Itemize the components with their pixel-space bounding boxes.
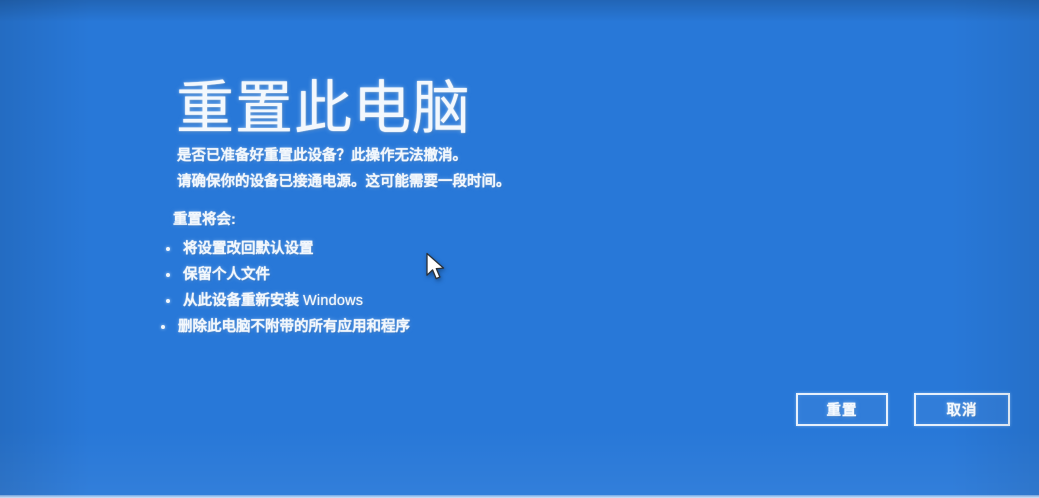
intro-paragraph: 是否已准备好重置此设备？此操作无法撤消。 请确保你的设备已接通电源。这可能需要一… xyxy=(177,143,737,195)
intro-line-1: 是否已准备好重置此设备？此操作无法撤消。 xyxy=(177,143,737,169)
reset-this-pc-screen: 重置此电脑 是否已准备好重置此设备？此操作无法撤消。 请确保你的设备已接通电源。… xyxy=(0,0,1039,498)
bullet-dot-icon xyxy=(166,299,170,303)
list-item-label: 删除此电脑不附带的所有应用和程序 xyxy=(178,319,410,335)
list-item-label: 保留个人文件 xyxy=(183,267,270,283)
list-item: 从此设备重新安装 Windows xyxy=(163,288,763,314)
bullet-dot-icon xyxy=(166,247,170,251)
reset-button[interactable]: 重置 xyxy=(796,393,888,426)
bullet-dot-icon xyxy=(161,325,165,329)
list-item: 将设置改回默认设置 xyxy=(163,236,763,262)
bullet-dot-icon xyxy=(166,273,170,277)
list-item-label-latin: Windows xyxy=(303,293,363,309)
reset-effects-list: 将设置改回默认设置 保留个人文件 从此设备重新安装 Windows 删除此电脑不… xyxy=(163,236,763,340)
list-item: 保留个人文件 xyxy=(163,262,763,288)
action-button-bar: 重置 取消 xyxy=(796,393,1010,426)
intro-line-2: 请确保你的设备已接通电源。这可能需要一段时间。 xyxy=(177,169,737,195)
cancel-button[interactable]: 取消 xyxy=(914,393,1010,426)
list-item-label: 从此设备重新安装 xyxy=(183,293,303,309)
list-item-label: 将设置改回默认设置 xyxy=(183,241,314,257)
reset-effects-heading: 重置将会: xyxy=(173,208,236,229)
page-title: 重置此电脑 xyxy=(176,77,471,142)
list-item: 删除此电脑不附带的所有应用和程序 xyxy=(158,314,763,340)
